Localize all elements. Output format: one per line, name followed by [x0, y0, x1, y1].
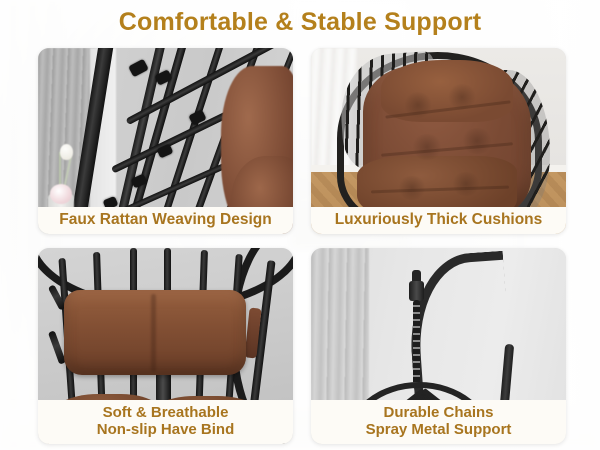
caption-rattan: Faux Rattan Weaving Design [38, 207, 293, 234]
photo-thick-cushion [311, 48, 566, 234]
feature-panel-cushions: Luxuriously Thick Cushions [311, 48, 566, 234]
page-title: Comfortable & Stable Support [0, 8, 600, 37]
caption-line: Durable Chains [313, 404, 564, 421]
caption-line: Spray Metal Support [313, 421, 564, 438]
caption-pillow: Soft & Breathable Non-slip Have Bind [38, 400, 293, 444]
caption-line: Soft & Breathable [40, 404, 291, 421]
photo-rattan-weaving [38, 48, 293, 234]
feature-panel-pillow: Soft & Breathable Non-slip Have Bind [38, 248, 293, 444]
caption-line: Faux Rattan Weaving Design [40, 211, 291, 229]
feature-panel-chains: Durable Chains Spray Metal Support [311, 248, 566, 444]
caption-chains: Durable Chains Spray Metal Support [311, 400, 566, 444]
feature-panel-rattan: Faux Rattan Weaving Design [38, 48, 293, 234]
caption-cushions: Luxuriously Thick Cushions [311, 207, 566, 234]
caption-line: Luxuriously Thick Cushions [313, 211, 564, 229]
caption-line: Non-slip Have Bind [40, 421, 291, 438]
product-feature-banner: Comfortable & Stable Support [0, 0, 600, 450]
feature-grid: Faux Rattan Weaving Design [38, 48, 566, 444]
